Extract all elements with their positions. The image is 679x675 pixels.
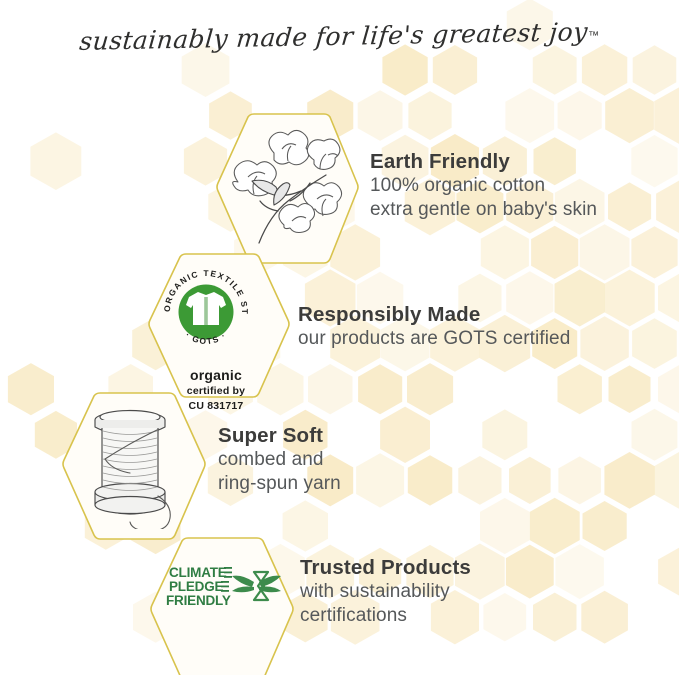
thread-spool-sketch-icon [78, 404, 196, 529]
feature-text-earth-friendly: Earth Friendly 100% organic cotton extra… [370, 150, 597, 222]
feature-text-super-soft: Super Soft combed and ring-spun yarn [218, 424, 341, 496]
feature-line: with sustainability [300, 580, 471, 604]
gots-organic-certification-icon: GLOBAL ORGANIC TEXTILE STANDARD · GOTS ·… [156, 262, 276, 413]
cpf-line-3: FRIENDLY [166, 593, 231, 608]
infographic-canvas: sustainably made for life's greatest joy… [0, 0, 679, 675]
feature-text-responsibly-made: Responsibly Made our products are GOTS c… [298, 303, 570, 351]
headline-text: sustainably made for life's greatest joy [78, 17, 589, 56]
climate-pledge-friendly-icon: CLIMATE PLEDGE FRIENDLY [166, 560, 284, 621]
gots-certified-by-label: certified by [156, 385, 276, 398]
feature-heading: Trusted Products [300, 556, 471, 580]
cpf-line-1: CLIMATE [169, 565, 227, 580]
trademark-symbol: ™ [588, 30, 599, 42]
winged-hourglass-icon [232, 572, 281, 600]
headline: sustainably made for life's greatest joy… [0, 22, 679, 51]
gots-license-number: CU 831717 [156, 400, 276, 413]
feature-heading: Super Soft [218, 424, 341, 448]
gots-organic-label: organic [156, 367, 276, 383]
feature-heading: Responsibly Made [298, 303, 570, 327]
feature-line: combed and [218, 448, 341, 472]
cotton-boll-sketch-icon [222, 125, 357, 255]
gots-seal-graphic: GLOBAL ORGANIC TEXTILE STANDARD · GOTS · [156, 262, 276, 360]
feature-heading: Earth Friendly [370, 150, 597, 174]
feature-line: our products are GOTS certified [298, 327, 570, 351]
feature-line: 100% organic cotton [370, 174, 597, 198]
feature-line: ring-spun yarn [218, 472, 341, 496]
cpf-line-2: PLEDGE [169, 579, 224, 594]
feature-text-trusted-products: Trusted Products with sustainability cer… [300, 556, 471, 628]
feature-line: extra gentle on baby's skin [370, 198, 597, 222]
feature-line: certifications [300, 604, 471, 628]
